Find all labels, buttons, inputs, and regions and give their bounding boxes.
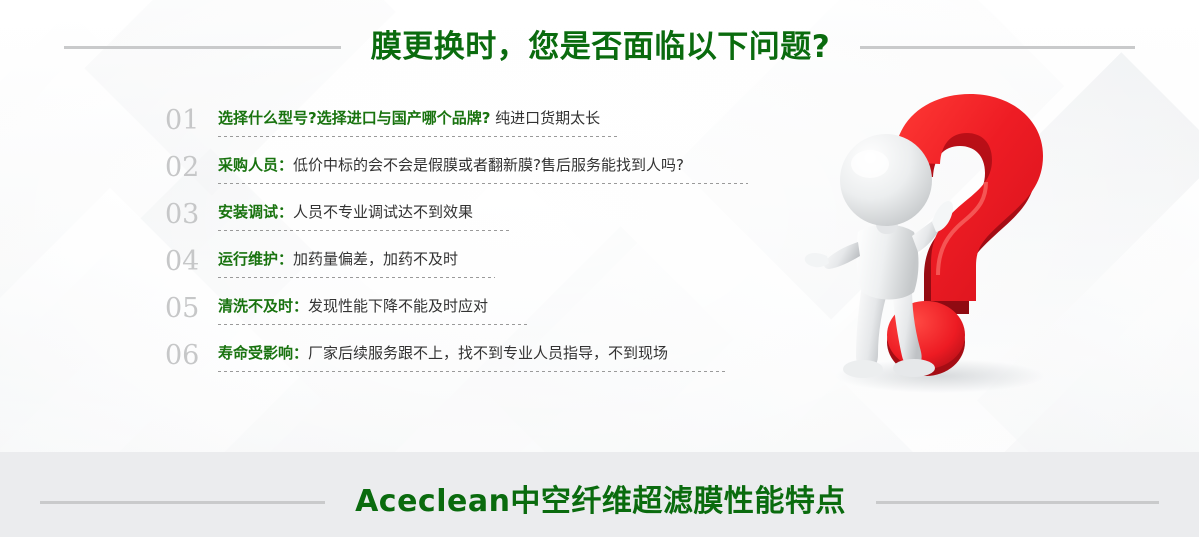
- top-heading-row: 膜更换时，您是否面临以下问题?: [0, 27, 1199, 67]
- list-item-body: 寿命受影响：厂家后续服务跟不上，找不到专业人员指导，不到现场: [218, 339, 785, 372]
- heading-rule-left: [64, 46, 341, 49]
- list-item-number: 04: [165, 245, 209, 279]
- list-item-body: 运行维护：加药量偏差，加药不及时: [218, 245, 785, 278]
- list-item-number: 05: [165, 292, 209, 326]
- figure-hand-left: [805, 253, 829, 267]
- figure-arm-left: [824, 242, 860, 269]
- list-item-text: 寿命受影响：厂家后续服务跟不上，找不到专业人员指导，不到现场: [218, 339, 785, 367]
- list-item-text: 采购人员：低价中标的会不会是假膜或者翻新膜?售后服务能找到人吗?: [218, 151, 785, 179]
- list-item-body: 清洗不及时：发现性能下降不能及时应对: [218, 292, 785, 325]
- list-item-text: 运行维护：加药量偏差，加药不及时: [218, 245, 785, 273]
- list-item-divider: [218, 324, 528, 325]
- list-item-number: 03: [165, 198, 209, 232]
- figure-foot-left: [843, 360, 883, 378]
- list-item-rest: 纯进口货期太长: [490, 109, 600, 127]
- question-mark-illustration-svg: [800, 80, 1199, 400]
- list-item-lead: 寿命受影响：: [218, 344, 308, 362]
- list-item-rest: 低价中标的会不会是假膜或者翻新膜?售后服务能找到人吗?: [293, 156, 684, 174]
- figure-head-highlight: [851, 150, 889, 178]
- list-item-lead: 采购人员：: [218, 156, 293, 174]
- list-item-lead: 安装调试：: [218, 203, 293, 221]
- list-item-text: 清洗不及时：发现性能下降不能及时应对: [218, 292, 785, 320]
- list-item-number: 02: [165, 151, 209, 185]
- list-item-rest: 发现性能下降不能及时应对: [308, 297, 488, 315]
- list-item: 04 运行维护：加药量偏差，加药不及时: [165, 245, 785, 292]
- figure-foot-right: [893, 359, 935, 377]
- figure-head: [840, 134, 932, 226]
- bottom-heading-row: Aceclean中空纤维超滤膜性能特点: [0, 482, 1199, 522]
- page-title: 膜更换时，您是否面临以下问题?: [371, 27, 830, 67]
- list-item: 06 寿命受影响：厂家后续服务跟不上，找不到专业人员指导，不到现场: [165, 339, 785, 386]
- list-item-lead: 选择什么型号?选择进口与国产哪个品牌?: [218, 109, 490, 127]
- list-item-lead: 运行维护：: [218, 250, 293, 268]
- section-title: Aceclean中空纤维超滤膜性能特点: [355, 482, 846, 522]
- hero-section: 膜更换时，您是否面临以下问题? 01 选择什么型号?选择进口与国产哪个品牌? 纯…: [0, 0, 1199, 452]
- list-item-divider: [218, 230, 510, 231]
- list-item: 05 清洗不及时：发现性能下降不能及时应对: [165, 292, 785, 339]
- list-item: 01 选择什么型号?选择进口与国产哪个品牌? 纯进口货期太长: [165, 104, 785, 151]
- list-item: 02 采购人员：低价中标的会不会是假膜或者翻新膜?售后服务能找到人吗?: [165, 151, 785, 198]
- list-item-text: 安装调试：人员不专业调试达不到效果: [218, 198, 785, 226]
- illustration: [800, 80, 1199, 400]
- list-item-rest: 加药量偏差，加药不及时: [293, 250, 458, 268]
- bottom-heading-rule-right: [876, 501, 1159, 504]
- list-item-divider: [218, 277, 495, 278]
- list-item-rest: 厂家后续服务跟不上，找不到专业人员指导，不到现场: [308, 344, 668, 362]
- list-item-rest: 人员不专业调试达不到效果: [293, 203, 473, 221]
- list-item-lead: 清洗不及时：: [218, 297, 308, 315]
- bottom-heading-rule-left: [40, 501, 325, 504]
- problem-list: 01 选择什么型号?选择进口与国产哪个品牌? 纯进口货期太长 02 采购人员：低…: [165, 104, 785, 386]
- promo-page: 膜更换时，您是否面临以下问题? 01 选择什么型号?选择进口与国产哪个品牌? 纯…: [0, 0, 1199, 537]
- list-item-divider: [218, 136, 618, 137]
- list-item-body: 采购人员：低价中标的会不会是假膜或者翻新膜?售后服务能找到人吗?: [218, 151, 785, 184]
- list-item-body: 安装调试：人员不专业调试达不到效果: [218, 198, 785, 231]
- list-item-body: 选择什么型号?选择进口与国产哪个品牌? 纯进口货期太长: [218, 104, 785, 137]
- list-item-number: 06: [165, 339, 209, 373]
- list-item-number: 01: [165, 104, 209, 138]
- figure-torso: [856, 225, 918, 300]
- list-item-text: 选择什么型号?选择进口与国产哪个品牌? 纯进口货期太长: [218, 104, 785, 132]
- list-item-divider: [218, 371, 728, 372]
- list-item: 03 安装调试：人员不专业调试达不到效果: [165, 198, 785, 245]
- list-item-divider: [218, 183, 748, 184]
- heading-rule-right: [860, 46, 1135, 49]
